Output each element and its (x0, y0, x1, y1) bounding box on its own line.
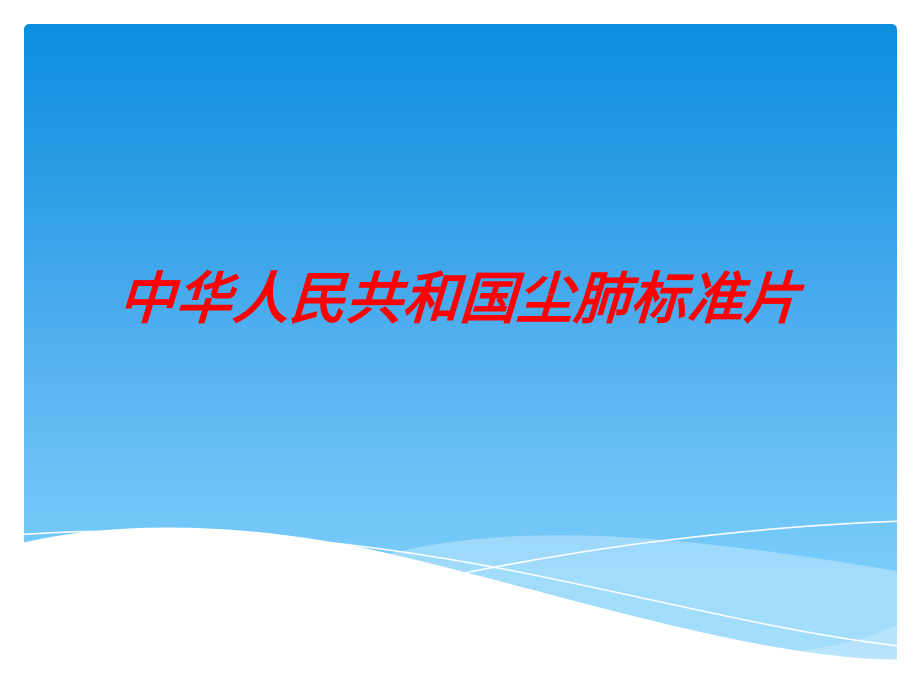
slide-surface[interactable]: 中华人民共和国尘肺标准片 (24, 24, 897, 665)
title-block[interactable]: 中华人民共和国尘肺标准片 (24, 272, 897, 328)
slide-canvas: 中华人民共和国尘肺标准片 (0, 0, 920, 690)
slide-title: 中华人民共和国尘肺标准片 (118, 272, 803, 328)
wave-swoosh-decoration (24, 475, 897, 665)
